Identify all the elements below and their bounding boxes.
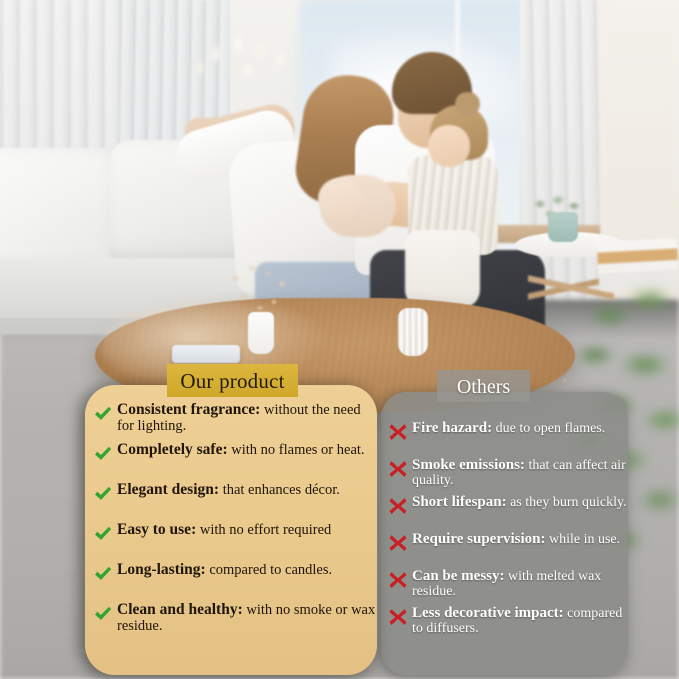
list-item-title: Consistent fragrance: (117, 401, 260, 418)
cross-icon (388, 607, 408, 627)
list-item: Completely safe: with no flames or heat. (93, 442, 378, 479)
list-item-title: Long-lasting: (117, 561, 206, 578)
infographic-stage: Our product Others Consistent fragrance:… (0, 0, 679, 679)
others-badge: Others (437, 370, 530, 402)
list-item: Can be messy: with melted wax residue. (388, 568, 628, 602)
fluted-vase (398, 308, 428, 356)
dried-flowers (222, 258, 302, 320)
list-item-detail: compared to candles. (206, 562, 332, 578)
girl-legs (405, 230, 480, 308)
list-item-title: Less decorative impact: (412, 605, 564, 621)
list-item: Require supervision: while in use. (388, 531, 628, 565)
cross-icon (388, 570, 408, 590)
list-item-text: Less decorative impact: compared to diff… (412, 605, 628, 636)
list-item: Smoke emissions: that can affect air qua… (388, 457, 628, 491)
list-item-text: Can be messy: with melted wax residue. (412, 568, 628, 599)
list-item: Clean and healthy: with no smoke or wax … (93, 602, 378, 639)
list-item-detail: that enhances décor. (219, 482, 340, 498)
our-product-list: Consistent fragrance: without the need f… (93, 402, 378, 642)
list-item-title: Easy to use: (117, 521, 196, 538)
cross-icon (388, 533, 408, 553)
cross-icon (388, 459, 408, 479)
cross-icon (388, 496, 408, 516)
list-item-text: Easy to use: with no effort required (117, 522, 331, 539)
list-item: Easy to use: with no effort required (93, 522, 378, 559)
girl-face (428, 125, 470, 167)
list-item-title: Fire hazard: (412, 420, 492, 436)
white-tulips (186, 20, 316, 100)
girl-hair-bun (455, 92, 480, 116)
mint-candle (548, 212, 578, 242)
list-item-title: Clean and healthy: (117, 601, 243, 618)
our-product-badge: Our product (167, 364, 298, 397)
list-item-text: Fire hazard: due to open flames. (412, 420, 605, 436)
list-item-detail: with no flames or heat. (228, 442, 365, 458)
diffuser-device (172, 345, 240, 363)
list-item-text: Completely safe: with no flames or heat. (117, 442, 365, 459)
list-item-text: Clean and healthy: with no smoke or wax … (117, 602, 378, 634)
list-item-title: Smoke emissions: (412, 457, 525, 473)
list-item-title: Elegant design: (117, 481, 219, 498)
list-item-title: Require supervision: (412, 531, 545, 547)
table-decor-grains (555, 372, 625, 390)
check-icon (93, 404, 113, 424)
baby-head (318, 178, 362, 220)
check-icon (93, 604, 113, 624)
check-icon (93, 484, 113, 504)
list-item-text: Elegant design: that enhances décor. (117, 482, 340, 499)
check-icon (93, 444, 113, 464)
list-item: Consistent fragrance: without the need f… (93, 402, 378, 439)
white-vase (248, 312, 274, 354)
list-item: Elegant design: that enhances décor. (93, 482, 378, 519)
list-item: Fire hazard: due to open flames. (388, 420, 628, 454)
list-item-text: Smoke emissions: that can affect air qua… (412, 457, 628, 488)
cross-icon (388, 422, 408, 442)
list-item: Less decorative impact: compared to diff… (388, 605, 628, 639)
list-item-detail: while in use. (545, 532, 620, 547)
list-item-title: Completely safe: (117, 441, 228, 458)
list-item-text: Consistent fragrance: without the need f… (117, 402, 378, 434)
others-list: Fire hazard: due to open flames.Smoke em… (388, 420, 628, 642)
list-item-detail: as they burn quickly. (507, 495, 627, 510)
list-item-detail: due to open flames. (492, 421, 605, 436)
check-icon (93, 524, 113, 544)
list-item-title: Short lifespan: (412, 494, 507, 510)
list-item: Short lifespan: as they burn quickly. (388, 494, 628, 528)
list-item-text: Require supervision: while in use. (412, 531, 620, 547)
check-icon (93, 564, 113, 584)
list-item-text: Short lifespan: as they burn quickly. (412, 494, 627, 510)
list-item-detail: with no effort required (196, 522, 331, 538)
list-item-title: Can be messy: (412, 568, 505, 584)
list-item-text: Long-lasting: compared to candles. (117, 562, 332, 579)
list-item: Long-lasting: compared to candles. (93, 562, 378, 599)
